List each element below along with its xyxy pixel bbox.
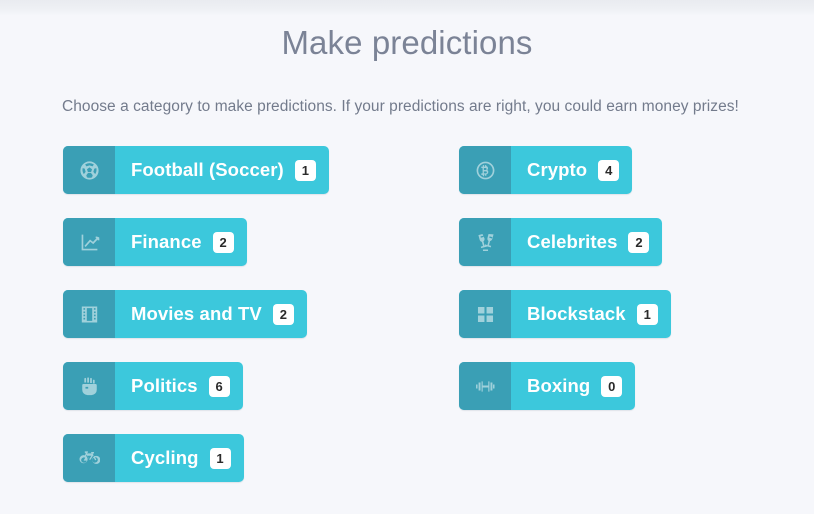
category-label: Cycling [131,449,199,468]
category-button-crypto[interactable]: Crypto4 [459,146,632,194]
grid-squares-icon [459,290,511,338]
category-count-badge: 1 [210,448,231,469]
category-count-badge: 2 [213,232,234,253]
raised-fist-icon [63,362,115,410]
category-button-celebrites[interactable]: Celebrites2 [459,218,662,266]
page-subtitle: Choose a category to make predictions. I… [0,98,814,116]
category-count-badge: 6 [209,376,230,397]
category-column-left: Football (Soccer)1Finance2Movies and TV2… [63,146,329,506]
category-button-blockstack[interactable]: Blockstack1 [459,290,671,338]
category-label: Politics [131,377,198,396]
category-button-body: Crypto4 [511,146,632,194]
category-button-body: Boxing0 [511,362,635,410]
category-count-badge: 1 [295,160,316,181]
category-label: Finance [131,233,202,252]
category-button-body: Politics6 [115,362,243,410]
line-chart-icon [63,218,115,266]
category-label: Blockstack [527,305,626,324]
category-button-body: Cycling1 [115,434,244,482]
category-button-body: Movies and TV2 [115,290,307,338]
category-button-cycling[interactable]: Cycling1 [63,434,244,482]
category-button-politics[interactable]: Politics6 [63,362,243,410]
dumbbell-icon [459,362,511,410]
category-column-right: Crypto4Celebrites2Blockstack1Boxing0 [459,146,671,434]
category-button-football-soccer[interactable]: Football (Soccer)1 [63,146,329,194]
category-label: Celebrites [527,233,617,252]
category-count-badge: 0 [601,376,622,397]
category-label: Boxing [527,377,590,396]
category-count-badge: 2 [273,304,294,325]
category-button-body: Blockstack1 [511,290,671,338]
category-button-movies-and-tv[interactable]: Movies and TV2 [63,290,307,338]
category-button-body: Football (Soccer)1 [115,146,329,194]
category-label: Crypto [527,161,587,180]
category-count-badge: 4 [598,160,619,181]
soccer-ball-icon [63,146,115,194]
category-button-body: Celebrites2 [511,218,662,266]
category-count-badge: 2 [628,232,649,253]
category-label: Movies and TV [131,305,262,324]
category-button-finance[interactable]: Finance2 [63,218,247,266]
bitcoin-icon [459,146,511,194]
bicycle-icon [63,434,115,482]
category-button-boxing[interactable]: Boxing0 [459,362,635,410]
category-button-body: Finance2 [115,218,247,266]
category-count-badge: 1 [637,304,658,325]
category-label: Football (Soccer) [131,161,284,180]
category-grid: Football (Soccer)1Finance2Movies and TV2… [0,146,814,486]
champagne-glasses-icon [459,218,511,266]
film-strip-icon [63,290,115,338]
page-title: Make predictions [0,24,814,62]
predictions-page: Make predictions Choose a category to ma… [0,0,814,486]
